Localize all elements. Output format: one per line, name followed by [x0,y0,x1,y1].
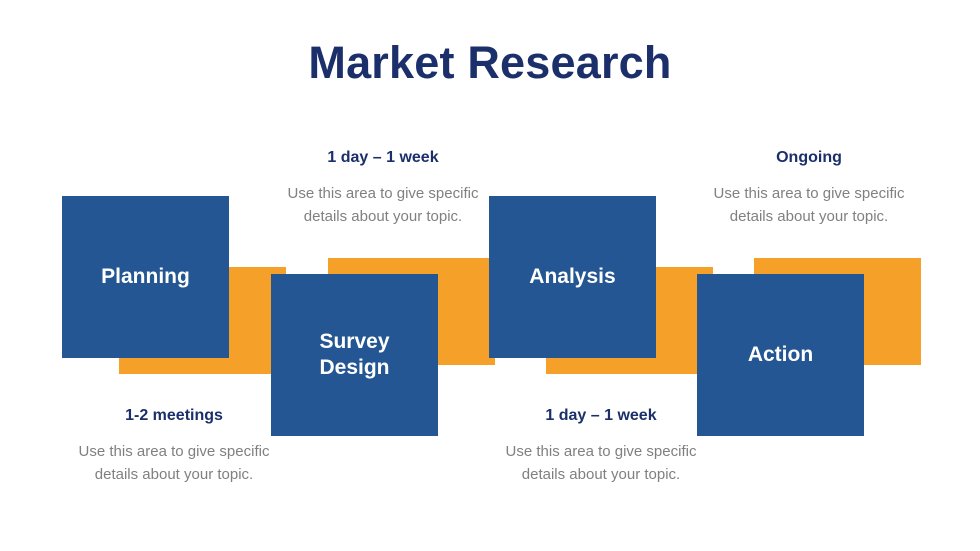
step-body-text: Use this area to give specific details a… [489,441,713,487]
blue-card-box[interactable]: Planning [62,196,229,358]
step-column-planning: Planning 1-2 meetings Use this area to g… [62,196,286,486]
step-card-planning[interactable]: Planning [62,196,286,374]
blue-card-box[interactable]: Action [697,274,864,436]
step-heading: 1 day – 1 week [489,406,713,427]
step-card-action[interactable]: Action [697,258,921,436]
step-heading: 1-2 meetings [62,406,286,427]
blue-card-box[interactable]: Analysis [489,196,656,358]
slide-canvas: Market Research Planning 1-2 meetings Us… [0,0,980,551]
step-body-text: Use this area to give specific details a… [271,183,495,229]
step-card-label: Analysis [529,264,615,290]
step-column-survey-design: 1 day – 1 week Use this area to give spe… [271,148,495,436]
step-body-text: Use this area to give specific details a… [697,183,921,229]
step-heading: 1 day – 1 week [271,148,495,169]
step-text-block-analysis: 1 day – 1 week Use this area to give spe… [489,406,713,486]
page-title: Market Research [0,38,980,88]
step-card-label: Action [748,342,813,368]
step-heading: Ongoing [697,148,921,169]
step-text-block-planning: 1-2 meetings Use this area to give speci… [62,406,286,486]
step-card-label: Survey Design [319,329,389,382]
step-card-label: Planning [101,264,190,290]
step-card-analysis[interactable]: Analysis [489,196,713,374]
step-column-analysis: Analysis 1 day – 1 week Use this area to… [489,196,713,486]
step-text-block-survey-design: 1 day – 1 week Use this area to give spe… [271,148,495,228]
step-card-survey-design[interactable]: Survey Design [271,258,495,436]
step-text-block-action: Ongoing Use this area to give specific d… [697,148,921,228]
blue-card-box[interactable]: Survey Design [271,274,438,436]
step-column-action: Ongoing Use this area to give specific d… [697,148,921,436]
step-body-text: Use this area to give specific details a… [62,441,286,487]
